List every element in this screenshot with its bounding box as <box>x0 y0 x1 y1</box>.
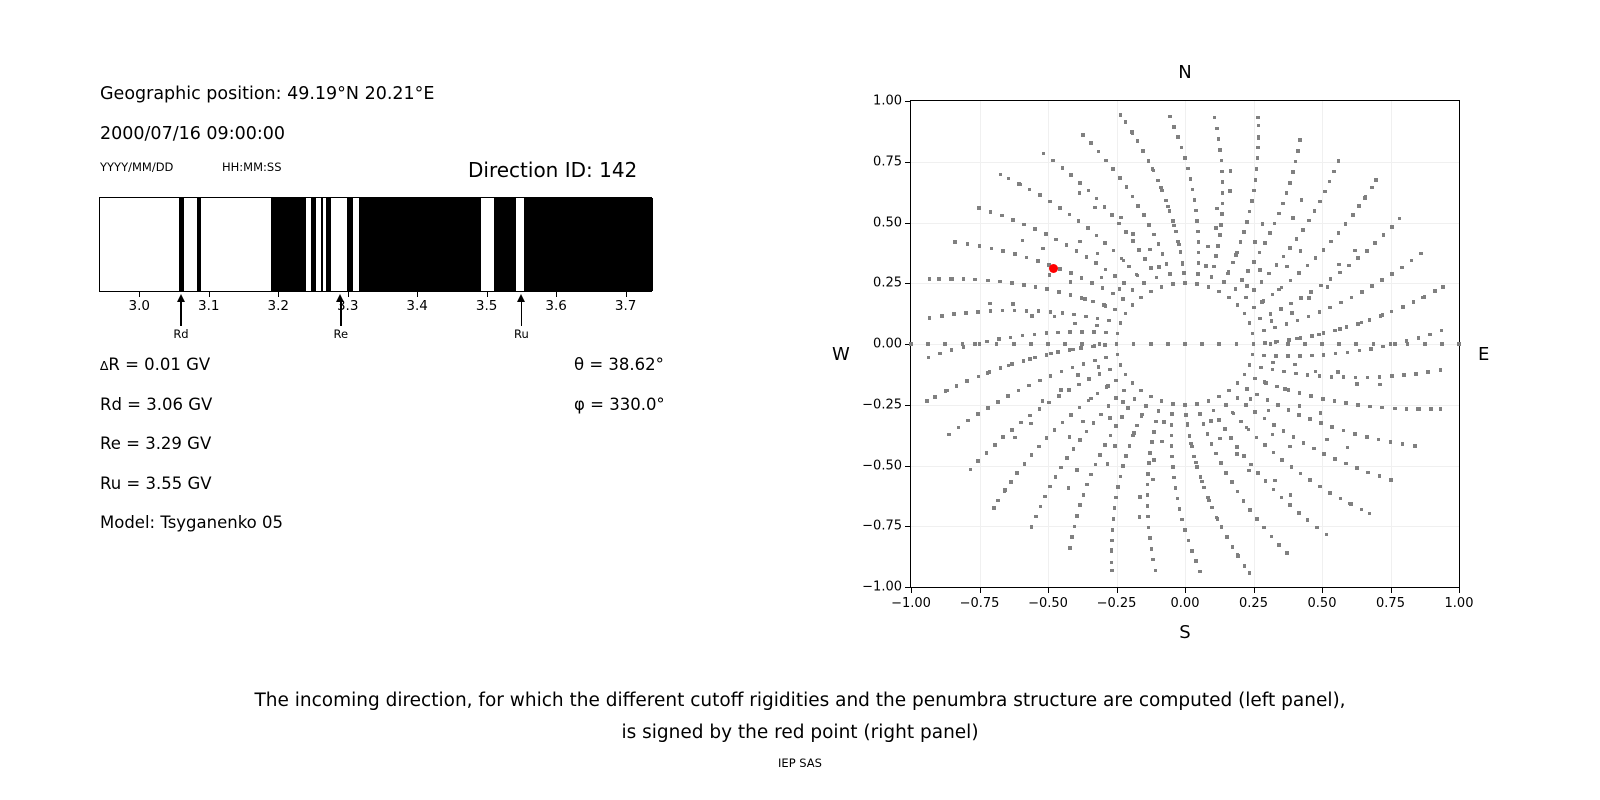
direction-point <box>1156 179 1160 183</box>
direction-point <box>1022 223 1026 227</box>
direction-point <box>1059 388 1063 392</box>
direction-point <box>1078 503 1082 507</box>
direction-point <box>1116 485 1120 489</box>
direction-point <box>1260 280 1264 284</box>
direction-point <box>1130 130 1134 134</box>
direction-point <box>1414 372 1418 376</box>
direction-point <box>1174 230 1178 234</box>
direction-point <box>1202 422 1206 426</box>
direction-point <box>1058 206 1062 210</box>
direction-point <box>1296 149 1300 153</box>
direction-point <box>1255 517 1259 521</box>
direction-point <box>1368 512 1372 516</box>
direction-point <box>1048 485 1052 489</box>
penumbra-axis-tick-label: 3.5 <box>476 298 497 314</box>
direction-point <box>1148 248 1152 252</box>
penumbra-axis-tick-label: 3.7 <box>615 298 636 314</box>
direction-point <box>1067 486 1071 490</box>
direction-point <box>1312 447 1316 451</box>
penumbra-axis-tick <box>139 292 140 297</box>
penumbra-chart <box>99 197 652 292</box>
direction-point <box>1030 453 1034 457</box>
direction-point <box>1083 297 1087 301</box>
y-axis-tick <box>905 162 911 163</box>
value-row: Re = 3.29 GV <box>100 434 660 474</box>
direction-point <box>1318 310 1322 314</box>
direction-point <box>1003 489 1007 493</box>
direction-point <box>1423 295 1427 299</box>
direction-point <box>1319 284 1323 288</box>
direction-point <box>1033 333 1037 337</box>
direction-point <box>1098 453 1102 457</box>
direction-point <box>1037 445 1041 449</box>
compass-west-label: W <box>832 344 850 365</box>
direction-point <box>1372 342 1376 346</box>
direction-point <box>1068 330 1072 334</box>
direction-point <box>1252 189 1256 193</box>
direction-point <box>1165 262 1169 266</box>
direction-point <box>1213 116 1217 120</box>
direction-point <box>1135 424 1139 428</box>
direction-point <box>1197 261 1201 265</box>
direction-point <box>1330 425 1334 429</box>
direction-point <box>1122 281 1126 285</box>
direction-point <box>1152 430 1156 434</box>
direction-point <box>1056 350 1060 354</box>
direction-point <box>1089 473 1093 477</box>
direction-point <box>1051 159 1055 163</box>
direction-point <box>1067 388 1071 392</box>
penumbra-band <box>524 198 653 291</box>
direction-point <box>1239 240 1243 244</box>
direction-point <box>1179 250 1183 254</box>
direction-point <box>1095 324 1099 328</box>
direction-point <box>1297 511 1301 515</box>
direction-point <box>995 342 999 346</box>
direction-point <box>1068 213 1072 217</box>
direction-point <box>1269 312 1273 316</box>
direction-point <box>1253 240 1257 244</box>
direction-point <box>1076 373 1080 377</box>
direction-point <box>1253 410 1257 414</box>
direction-point <box>1139 389 1143 393</box>
direction-point <box>909 342 913 346</box>
direction-point <box>1121 464 1125 468</box>
direction-point <box>1115 342 1119 346</box>
direction-point <box>1181 261 1185 265</box>
direction-point <box>1060 370 1064 374</box>
direction-point <box>1080 330 1084 334</box>
direction-point <box>1262 526 1266 530</box>
direction-point <box>1131 434 1135 438</box>
direction-point <box>1224 471 1228 475</box>
direction-point <box>1380 406 1384 410</box>
direction-point <box>1268 231 1272 235</box>
direction-point <box>1217 395 1221 399</box>
direction-point <box>1393 407 1397 411</box>
direction-point <box>1353 432 1357 436</box>
direction-point <box>1256 156 1260 160</box>
direction-point <box>973 342 977 346</box>
direction-point <box>1234 287 1238 291</box>
direction-point <box>1131 288 1135 292</box>
rigidity-marker-label: Re <box>333 327 348 341</box>
direction-point <box>1225 535 1229 539</box>
direction-point <box>1131 232 1135 236</box>
direction-point <box>1210 506 1214 510</box>
direction-point <box>1058 267 1062 271</box>
direction-point <box>1252 342 1256 346</box>
direction-point <box>1149 395 1153 399</box>
ru-value: Ru = 3.55 GV <box>100 474 212 493</box>
direction-point <box>1253 377 1257 381</box>
direction-point <box>1078 406 1082 410</box>
direction-point <box>1127 265 1131 269</box>
direction-point <box>1338 271 1342 275</box>
direction-point <box>1069 413 1073 417</box>
direction-point <box>1231 261 1235 265</box>
direction-point <box>1200 342 1204 346</box>
x-axis-tick-label: −0.25 <box>1097 596 1137 611</box>
direction-point <box>1360 508 1364 512</box>
direction-point <box>976 412 980 416</box>
direction-point <box>1220 159 1224 163</box>
direction-point <box>1326 285 1330 289</box>
penumbra-band <box>179 198 185 291</box>
direction-point <box>1187 539 1191 543</box>
direction-point <box>1370 186 1374 190</box>
direction-point <box>1056 331 1060 335</box>
direction-point <box>1214 226 1218 230</box>
direction-point <box>1302 441 1306 445</box>
direction-point <box>1012 342 1016 346</box>
direction-point <box>955 384 959 388</box>
direction-point <box>1330 375 1334 379</box>
direction-point <box>1344 462 1348 466</box>
direction-point <box>1275 385 1279 389</box>
y-axis-tick-label: −0.75 <box>862 519 902 534</box>
direction-point <box>1183 156 1187 160</box>
direction-point <box>1342 375 1346 379</box>
direction-point <box>1103 343 1107 347</box>
direction-point <box>1147 159 1151 163</box>
direction-point <box>1282 429 1286 433</box>
direction-point <box>1178 507 1182 511</box>
direction-point <box>1160 189 1164 193</box>
direction-point <box>1085 430 1089 434</box>
direction-point <box>1423 342 1427 346</box>
x-axis-tick <box>1322 587 1323 593</box>
direction-point <box>1318 485 1322 489</box>
direction-point <box>1229 169 1233 173</box>
direction-point <box>1016 471 1020 475</box>
direction-point <box>1087 189 1091 193</box>
direction-point <box>1400 266 1404 270</box>
direction-point <box>1093 359 1097 363</box>
direction-point <box>974 278 978 282</box>
direction-point <box>1406 342 1410 346</box>
direction-point <box>1309 290 1313 294</box>
direction-point <box>969 468 973 472</box>
direction-point <box>1054 238 1058 242</box>
direction-point <box>1328 306 1332 310</box>
direction-point <box>1441 285 1445 289</box>
y-axis-tick-label: −1.00 <box>862 580 902 595</box>
direction-point <box>1457 342 1461 346</box>
direction-point <box>1390 225 1394 229</box>
direction-point <box>1289 493 1293 497</box>
direction-point <box>1146 504 1150 508</box>
direction-point <box>1147 223 1151 227</box>
direction-point <box>1107 319 1111 323</box>
direction-point <box>1041 399 1045 403</box>
direction-point <box>950 348 954 352</box>
direction-point <box>1089 141 1093 145</box>
direction-point <box>1037 309 1041 313</box>
direction-point <box>1378 474 1382 478</box>
direction-point <box>1124 230 1128 234</box>
direction-point <box>1176 497 1180 501</box>
direction-point <box>1319 411 1323 415</box>
direction-point <box>1206 432 1210 436</box>
direction-point <box>1325 438 1329 442</box>
direction-point <box>1300 198 1304 202</box>
direction-point <box>1280 496 1284 500</box>
direction-point <box>1110 213 1114 217</box>
direction-point <box>1065 456 1069 460</box>
direction-point <box>1417 336 1421 340</box>
direction-point <box>1346 446 1350 450</box>
direction-point <box>1244 403 1248 407</box>
direction-point <box>1119 216 1123 220</box>
compass-north-label: N <box>910 62 1460 83</box>
direction-point <box>1140 414 1144 418</box>
direction-point <box>1091 300 1095 304</box>
compass-east-label: E <box>1478 344 1489 365</box>
direction-point <box>1356 322 1360 326</box>
penumbra-band <box>321 198 323 291</box>
direction-point <box>1336 370 1340 374</box>
date-format-hint: YYYY/MM/DD <box>100 160 173 174</box>
direction-point <box>1389 478 1393 482</box>
direction-point <box>992 506 996 510</box>
direction-point <box>1148 451 1152 455</box>
direction-point <box>1146 515 1150 519</box>
direction-point <box>1138 495 1142 499</box>
direction-point <box>1337 263 1341 267</box>
direction-point <box>1131 303 1135 307</box>
direction-point <box>1369 347 1373 351</box>
penumbra-axis-tick-label: 3.2 <box>267 298 288 314</box>
direction-point <box>1192 455 1196 459</box>
direction-point <box>966 242 970 246</box>
direction-point <box>1142 281 1146 285</box>
direction-point <box>1401 442 1405 446</box>
direction-point <box>1033 356 1037 360</box>
direction-point <box>1355 466 1359 470</box>
direction-point <box>1125 185 1129 189</box>
direction-point <box>1389 342 1393 346</box>
direction-point <box>1338 327 1342 331</box>
direction-point <box>1245 220 1249 224</box>
direction-point <box>1294 160 1298 164</box>
direction-point <box>1285 551 1289 555</box>
x-axis-tick <box>1254 587 1255 593</box>
direction-point <box>1314 370 1318 374</box>
direction-point <box>925 399 929 403</box>
direction-point <box>1170 434 1174 438</box>
direction-point <box>1136 204 1140 208</box>
direction-point <box>1120 257 1124 261</box>
direction-point <box>1053 315 1057 319</box>
direction-point <box>1104 356 1108 360</box>
direction-point <box>1287 408 1291 412</box>
direction-point <box>1303 342 1307 346</box>
direction-point <box>1217 137 1221 141</box>
theta-value: θ = 38.62° <box>574 355 664 374</box>
direction-point <box>1166 342 1170 346</box>
direction-point <box>1196 230 1200 234</box>
direction-point <box>1176 240 1180 244</box>
direction-point <box>1091 345 1095 349</box>
selected-direction-marker[interactable] <box>1049 264 1058 273</box>
direction-point <box>938 352 942 356</box>
direction-point <box>1297 413 1301 417</box>
direction-point <box>1271 368 1275 372</box>
penumbra-band <box>197 198 202 291</box>
direction-point <box>1084 315 1088 319</box>
direction-point <box>1030 314 1034 318</box>
direction-point <box>1122 389 1126 393</box>
footer-credit: IEP SAS <box>0 756 1600 770</box>
direction-point <box>1096 392 1100 396</box>
direction-point <box>1410 259 1414 263</box>
direction-point <box>1081 133 1085 137</box>
y-axis-tick <box>905 101 911 102</box>
direction-point <box>1124 120 1128 124</box>
direction-point <box>1328 491 1332 495</box>
direction-point <box>1170 423 1174 427</box>
direction-point <box>1212 265 1216 269</box>
direction-point <box>1034 515 1038 519</box>
value-row: Rd = 3.06 GV φ = 330.0° <box>100 395 660 435</box>
penumbra-axis-tick <box>209 292 210 297</box>
direction-point <box>1038 194 1042 198</box>
direction-point <box>1113 308 1117 312</box>
direction-point <box>1351 214 1355 218</box>
direction-point <box>1195 282 1199 286</box>
direction-point <box>1398 217 1402 221</box>
direction-point <box>1242 454 1246 458</box>
direction-point <box>1306 373 1310 377</box>
direction-point <box>1344 401 1348 405</box>
direction-point <box>1114 379 1118 383</box>
geographic-position-label: Geographic position: 49.19°N 20.21°E <box>100 84 435 104</box>
direction-point <box>1219 223 1223 227</box>
direction-point <box>1054 475 1058 479</box>
penumbra-plot-area <box>99 197 652 292</box>
direction-point <box>1281 202 1285 206</box>
direction-point <box>1090 281 1094 285</box>
direction-point <box>1288 181 1292 185</box>
direction-point <box>1009 336 1013 340</box>
direction-point <box>1001 309 1005 313</box>
direction-point <box>1251 332 1255 336</box>
direction-point <box>1262 354 1266 358</box>
direction-point <box>1273 222 1277 226</box>
direction-point <box>1113 274 1117 278</box>
value-row: Ru = 3.55 GV <box>100 474 660 514</box>
direction-point <box>1349 502 1353 506</box>
direction-point <box>1356 403 1360 407</box>
penumbra-band <box>311 198 317 291</box>
direction-point <box>1246 269 1250 273</box>
direction-point <box>1390 374 1394 378</box>
direction-point <box>1439 407 1443 411</box>
direction-point <box>1119 113 1123 117</box>
direction-point <box>1297 271 1301 275</box>
direction-point <box>1402 373 1406 377</box>
direction-point <box>986 406 990 410</box>
direction-point <box>1254 178 1258 182</box>
direction-point <box>1290 465 1294 469</box>
direction-point <box>1433 289 1437 293</box>
direction-point <box>1323 190 1327 194</box>
direction-point <box>1038 379 1042 383</box>
direction-point <box>1194 559 1198 563</box>
x-axis-tick <box>1117 587 1118 593</box>
time-format-hint: HH:MM:SS <box>222 160 282 174</box>
direction-point <box>1426 370 1430 374</box>
direction-point <box>1189 177 1193 181</box>
direction-point <box>998 280 1002 284</box>
direction-point <box>1364 195 1368 199</box>
direction-point <box>1247 428 1251 432</box>
direction-point <box>1157 409 1161 413</box>
direction-point <box>1271 293 1275 297</box>
direction-point <box>1013 309 1017 313</box>
direction-point <box>1270 319 1274 323</box>
direction-point <box>1191 188 1195 192</box>
direction-point <box>1196 272 1200 276</box>
gridline-horizontal <box>911 223 1459 224</box>
direction-point <box>1379 314 1383 318</box>
direction-point <box>1263 443 1267 447</box>
direction-point <box>1041 247 1045 251</box>
y-axis-tick <box>905 405 911 406</box>
direction-point <box>1346 351 1350 355</box>
direction-point <box>1401 305 1405 309</box>
direction-point <box>1417 407 1421 411</box>
direction-point <box>1215 127 1219 131</box>
direction-point <box>1306 264 1310 268</box>
direction-point <box>1356 256 1360 260</box>
direction-point <box>1183 342 1187 346</box>
direction-point <box>1071 348 1075 352</box>
direction-point <box>1170 412 1174 416</box>
direction-point <box>1102 303 1106 307</box>
direction-point <box>1098 342 1102 346</box>
direction-point <box>1339 301 1343 305</box>
direction-point <box>1299 249 1303 253</box>
direction-point <box>1113 444 1117 448</box>
direction-point <box>962 277 966 281</box>
direction-point <box>1439 368 1443 372</box>
direction-point <box>1322 248 1326 252</box>
x-axis-tick-label: −1.00 <box>891 596 931 611</box>
x-axis-tick-label: 0.00 <box>1171 596 1200 611</box>
direction-point <box>947 433 951 437</box>
